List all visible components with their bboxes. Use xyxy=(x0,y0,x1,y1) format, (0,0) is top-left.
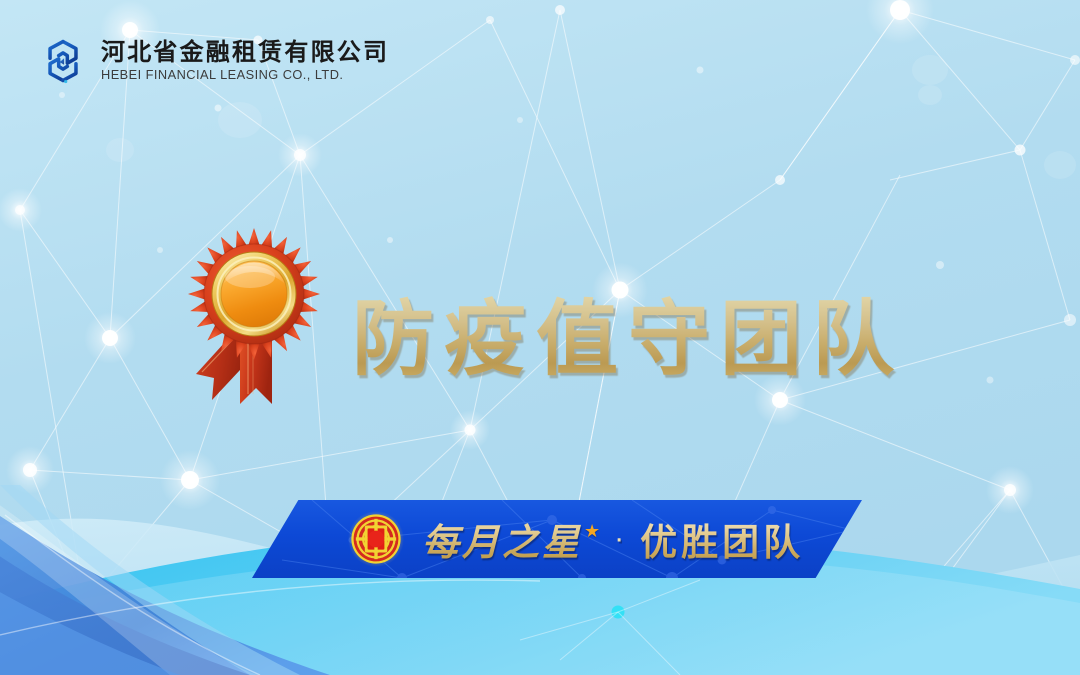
company-brand-header: 河北省金融租赁有限公司 HEBEI FINANCIAL LEASING CO.,… xyxy=(36,34,389,88)
banner-script-text: 每月之星 xyxy=(422,512,582,566)
medal-center xyxy=(212,252,296,336)
award-banner: 每月之星 ★ · 优胜团队 xyxy=(252,500,862,578)
page-title: 防疫值守团队 xyxy=(352,285,904,377)
star-icon: ★ xyxy=(584,521,600,542)
award-rosette-icon xyxy=(178,222,328,407)
brand-text-block: 河北省金融租赁有限公司 HEBEI FINANCIAL LEASING CO.,… xyxy=(101,40,389,82)
trade-union-emblem-icon xyxy=(348,511,404,567)
presentation-slide: 河北省金融租赁有限公司 HEBEI FINANCIAL LEASING CO.,… xyxy=(0,0,1080,675)
company-name-en: HEBEI FINANCIAL LEASING CO., LTD. xyxy=(101,69,389,82)
banner-bold-text: 优胜团队 xyxy=(640,512,804,566)
banner-separator: · xyxy=(614,522,624,556)
company-name-cn: 河北省金融租赁有限公司 xyxy=(101,40,389,64)
hexagon-knot-logo-icon xyxy=(36,34,90,88)
banner-text-group: 每月之星 ★ · 优胜团队 xyxy=(422,500,804,578)
